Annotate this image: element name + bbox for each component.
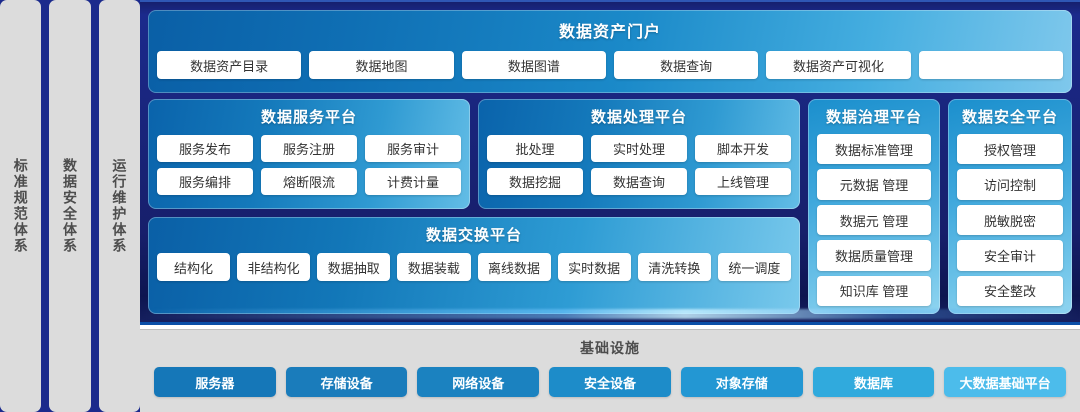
panel-data-service-platform: 数据服务平台 服务发布 服务注册 服务审计 服务编排 熔断限流 计费计量 [148, 99, 470, 209]
platforms-left-column: 数据服务平台 服务发布 服务注册 服务审计 服务编排 熔断限流 计费计量 数据处… [148, 99, 800, 314]
governance-platform-items: 数据标准管理 元数据 管理 数据元 管理 数据质量管理 知识库 管理 [817, 134, 931, 306]
panel-data-asset-portal: 数据资产门户 数据资产目录 数据地图 数据图谱 数据查询 数据资产可视化 [148, 10, 1072, 93]
governance-item-data-quality-mgmt[interactable]: 数据质量管理 [817, 240, 931, 270]
panel-title: 数据处理平台 [487, 106, 791, 127]
governance-item-knowledge-base-mgmt[interactable]: 知识库 管理 [817, 276, 931, 306]
portal-item-visualization[interactable]: 数据资产可视化 [766, 51, 910, 79]
service-platform-items: 服务发布 服务注册 服务审计 服务编排 熔断限流 计费计量 [157, 135, 461, 195]
service-item-register[interactable]: 服务注册 [261, 135, 357, 162]
security-item-authorization-mgmt[interactable]: 授权管理 [957, 134, 1063, 164]
exchange-platform-items: 结构化 非结构化 数据抽取 数据装载 离线数据 实时数据 清洗转换 统一调度 [157, 253, 791, 281]
processing-item-mining[interactable]: 数据挖掘 [487, 168, 583, 195]
infra-item-storage-device[interactable]: 存储设备 [286, 367, 408, 397]
security-item-security-rectification[interactable]: 安全整改 [957, 276, 1063, 306]
pillar-label: 数据安全体系 [62, 158, 78, 254]
infra-item-network-device[interactable]: 网络设备 [417, 367, 539, 397]
service-item-publish[interactable]: 服务发布 [157, 135, 253, 162]
panel-data-security-platform: 数据安全平台 授权管理 访问控制 脱敏脱密 安全审计 安全整改 [948, 99, 1072, 314]
portal-item-data-graph[interactable]: 数据图谱 [462, 51, 606, 79]
platform-stack-container: 数据资产门户 数据资产目录 数据地图 数据图谱 数据查询 数据资产可视化 数据服… [140, 0, 1080, 325]
security-platform-items: 授权管理 访问控制 脱敏脱密 安全审计 安全整改 [957, 134, 1063, 306]
pillar-data-security[interactable]: 数据安全体系 [49, 0, 90, 412]
platforms-band: 数据服务平台 服务发布 服务注册 服务审计 服务编排 熔断限流 计费计量 数据处… [148, 99, 1072, 314]
panel-title: 基础设施 [154, 338, 1066, 358]
exchange-item-load[interactable]: 数据装载 [397, 253, 470, 281]
service-item-audit[interactable]: 服务审计 [365, 135, 461, 162]
platforms-top-row: 数据服务平台 服务发布 服务注册 服务审计 服务编排 熔断限流 计费计量 数据处… [148, 99, 800, 209]
panel-data-exchange-platform: 数据交换平台 结构化 非结构化 数据抽取 数据装载 离线数据 实时数据 清洗转换… [148, 217, 800, 314]
processing-item-query[interactable]: 数据查询 [591, 168, 687, 195]
exchange-item-realtime-data[interactable]: 实时数据 [558, 253, 631, 281]
processing-item-realtime[interactable]: 实时处理 [591, 135, 687, 162]
pillar-operations-maintenance[interactable]: 运行维护体系 [99, 0, 140, 412]
pillar-label: 标准规范体系 [13, 158, 29, 254]
portal-item-data-query[interactable]: 数据查询 [614, 51, 758, 79]
infra-item-database[interactable]: 数据库 [813, 367, 935, 397]
panel-title: 数据治理平台 [817, 106, 931, 127]
portal-items-row: 数据资产目录 数据地图 数据图谱 数据查询 数据资产可视化 [157, 51, 1063, 79]
panel-infrastructure: 基础设施 服务器 存储设备 网络设备 安全设备 对象存储 数据库 大数据基础平台 [140, 329, 1080, 412]
exchange-item-unified-scheduling[interactable]: 统一调度 [718, 253, 791, 281]
governance-item-data-standard-mgmt[interactable]: 数据标准管理 [817, 134, 931, 164]
pillar-label: 运行维护体系 [111, 158, 127, 254]
architecture-diagram: 标准规范体系 数据安全体系 运行维护体系 数据资产门户 数据资产目录 数据地图 … [0, 0, 1080, 412]
panel-title: 数据交换平台 [157, 224, 791, 245]
portal-item-empty[interactable] [919, 51, 1063, 79]
security-item-masking-decryption[interactable]: 脱敏脱密 [957, 205, 1063, 235]
vertical-pillars-group: 标准规范体系 数据安全体系 运行维护体系 [0, 0, 140, 412]
security-item-access-control[interactable]: 访问控制 [957, 169, 1063, 199]
exchange-item-offline-data[interactable]: 离线数据 [478, 253, 551, 281]
service-item-circuit-breaker[interactable]: 熔断限流 [261, 168, 357, 195]
infra-item-server[interactable]: 服务器 [154, 367, 276, 397]
processing-item-release-mgmt[interactable]: 上线管理 [695, 168, 791, 195]
infra-item-object-storage[interactable]: 对象存储 [681, 367, 803, 397]
service-item-billing[interactable]: 计费计量 [365, 168, 461, 195]
glossy-highlight [140, 309, 1080, 319]
panel-data-processing-platform: 数据处理平台 批处理 实时处理 脚本开发 数据挖掘 数据查询 上线管理 [478, 99, 800, 209]
panel-title: 数据资产门户 [157, 18, 1063, 42]
exchange-item-structured[interactable]: 结构化 [157, 253, 230, 281]
exchange-item-unstructured[interactable]: 非结构化 [237, 253, 310, 281]
governance-item-data-element-mgmt[interactable]: 数据元 管理 [817, 205, 931, 235]
governance-item-metadata-mgmt[interactable]: 元数据 管理 [817, 169, 931, 199]
infrastructure-items: 服务器 存储设备 网络设备 安全设备 对象存储 数据库 大数据基础平台 [154, 367, 1066, 397]
exchange-item-extract[interactable]: 数据抽取 [317, 253, 390, 281]
processing-platform-items: 批处理 实时处理 脚本开发 数据挖掘 数据查询 上线管理 [487, 135, 791, 195]
infra-item-security-device[interactable]: 安全设备 [549, 367, 671, 397]
security-item-security-audit[interactable]: 安全审计 [957, 240, 1063, 270]
panel-title: 数据服务平台 [157, 106, 461, 127]
exchange-item-cleansing[interactable]: 清洗转换 [638, 253, 711, 281]
service-item-orchestration[interactable]: 服务编排 [157, 168, 253, 195]
portal-item-catalog[interactable]: 数据资产目录 [157, 51, 301, 79]
processing-item-batch[interactable]: 批处理 [487, 135, 583, 162]
panel-title: 数据安全平台 [957, 106, 1063, 127]
infra-item-bigdata-platform[interactable]: 大数据基础平台 [944, 367, 1066, 397]
panel-data-governance-platform: 数据治理平台 数据标准管理 元数据 管理 数据元 管理 数据质量管理 知识库 管… [808, 99, 940, 314]
pillar-standards[interactable]: 标准规范体系 [0, 0, 41, 412]
portal-item-data-map[interactable]: 数据地图 [309, 51, 453, 79]
processing-item-script-dev[interactable]: 脚本开发 [695, 135, 791, 162]
